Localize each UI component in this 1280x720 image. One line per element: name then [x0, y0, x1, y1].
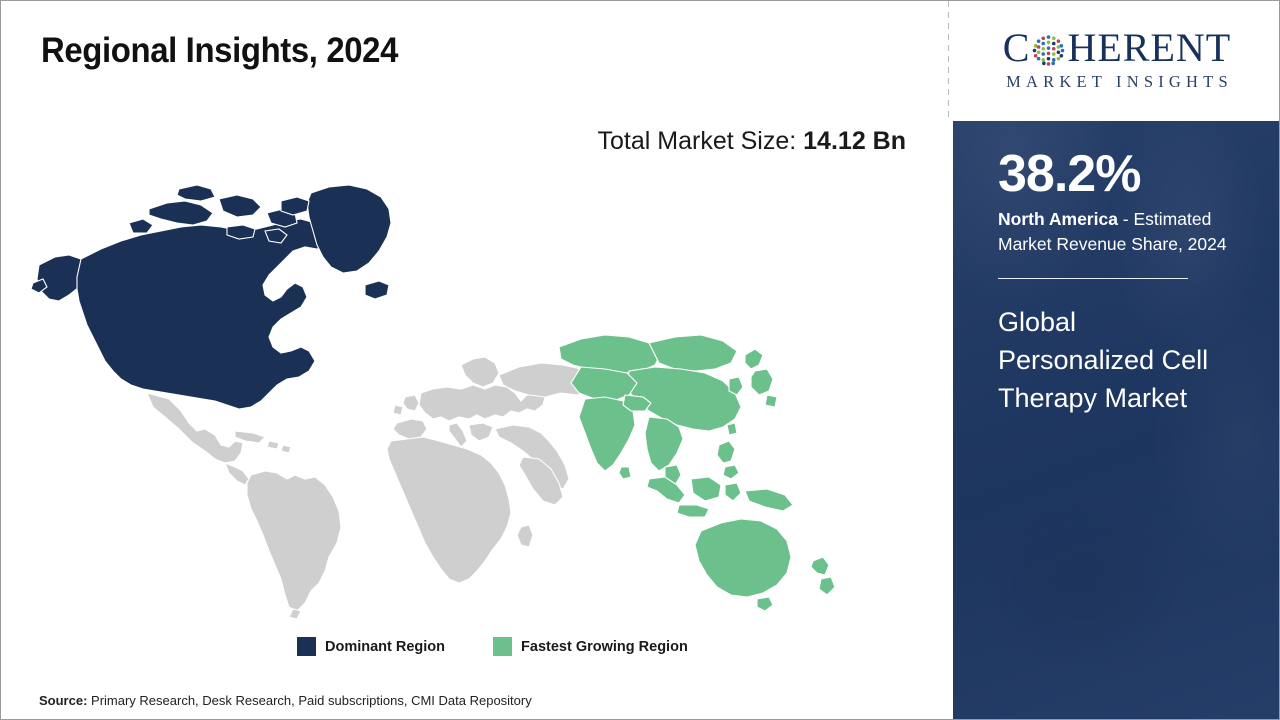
- left-content-panel: Regional Insights, 2024 Total Market Siz…: [1, 1, 948, 720]
- market-share-description: North America - Estimated Market Revenue…: [998, 207, 1250, 258]
- map-region-asia-pacific: [559, 335, 835, 611]
- map-region-north-america: [31, 185, 391, 409]
- world-map: [29, 179, 839, 619]
- infographic-canvas: Regional Insights, 2024 Total Market Siz…: [0, 0, 1280, 720]
- green-square-icon: [493, 637, 512, 656]
- map-legend: Dominant Region Fastest Growing Region: [297, 637, 688, 656]
- logo-subtitle: MARKET INSIGHTS: [1001, 72, 1233, 92]
- logo-word-pre: C: [1003, 28, 1031, 68]
- logo-wordmark: C: [1003, 28, 1231, 68]
- navy-square-icon: [297, 637, 316, 656]
- legend-label-dominant: Dominant Region: [325, 639, 445, 655]
- side-panel: 38.2% North America - Estimated Market R…: [953, 121, 1280, 719]
- region-name: North America: [998, 209, 1118, 229]
- panel-divider: [948, 1, 949, 119]
- source-text: Primary Research, Desk Research, Paid su…: [87, 693, 531, 708]
- logo-word-post: HERENT: [1067, 28, 1231, 68]
- world-map-svg: [29, 179, 839, 619]
- market-name: Global Personalized Cell Therapy Market: [998, 303, 1213, 418]
- source-label: Source:: [39, 693, 87, 708]
- page-title: Regional Insights, 2024: [41, 31, 398, 71]
- company-logo: C: [953, 1, 1280, 119]
- total-market-size: Total Market Size: 14.12 Bn: [1, 127, 906, 156]
- legend-item-fastest-growing: Fastest Growing Region: [493, 637, 688, 656]
- side-panel-content: 38.2% North America - Estimated Market R…: [953, 121, 1280, 719]
- legend-label-fastest-growing: Fastest Growing Region: [521, 639, 688, 655]
- legend-item-dominant: Dominant Region: [297, 637, 445, 656]
- market-share-value: 38.2%: [998, 147, 1250, 201]
- total-market-size-label: Total Market Size:: [598, 127, 797, 155]
- total-market-size-value: 14.12 Bn: [803, 127, 906, 155]
- globe-dots-icon: [1031, 33, 1066, 68]
- source-note: Source: Primary Research, Desk Research,…: [39, 693, 532, 708]
- side-panel-divider: [998, 278, 1188, 279]
